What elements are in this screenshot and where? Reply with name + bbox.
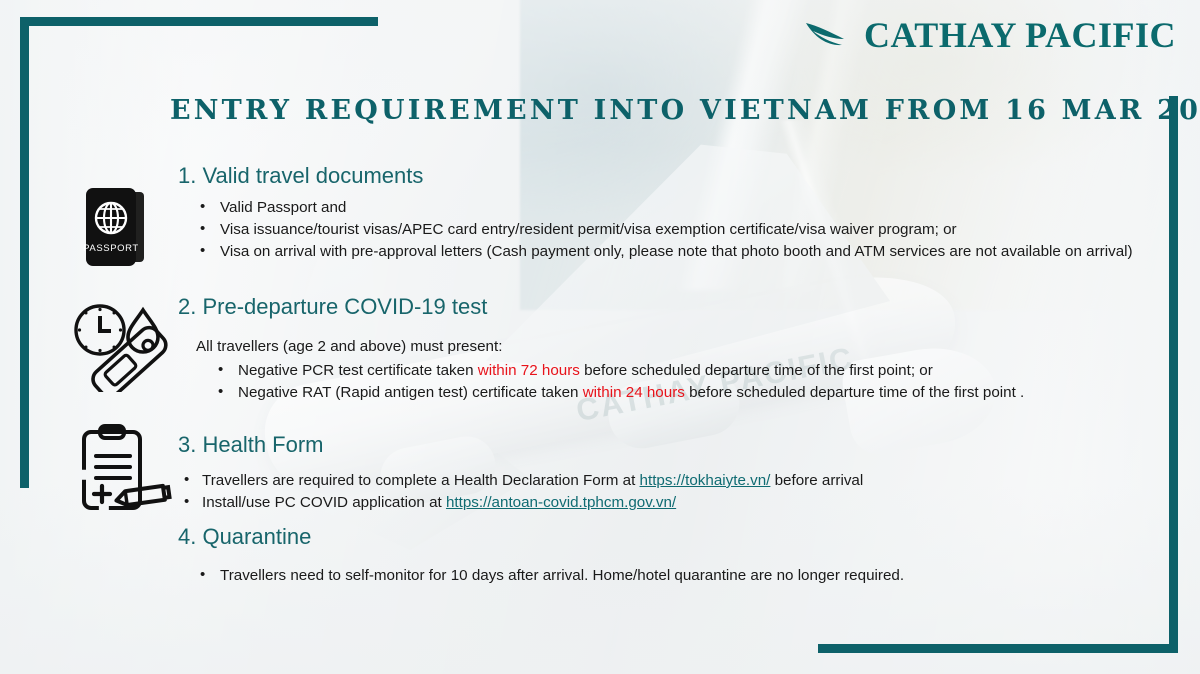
pc-covid-app-link[interactable]: https://antoan-covid.tphcm.gov.vn/ — [446, 494, 676, 511]
list-item: Visa on arrival with pre-approval letter… — [178, 241, 1138, 262]
corner-bracket-top-left-vertical — [20, 17, 29, 488]
text-after: before scheduled departure time of the f… — [580, 362, 933, 379]
brand-name: CATHAY PACIFIC — [864, 14, 1176, 56]
section-2-intro: All travellers (age 2 and above) must pr… — [196, 338, 502, 355]
text-before: Negative PCR test certificate taken — [238, 362, 478, 379]
covid-test-clock-icon — [70, 300, 170, 397]
entry-requirement-slide: CATHAY PACIFIC CATHAY PACIFIC ENTRY REQU… — [0, 0, 1200, 674]
svg-text:PASSPORT: PASSPORT — [83, 243, 139, 254]
highlight-text: within 72 hours — [478, 362, 580, 379]
text-before: Travellers are required to complete a He… — [202, 472, 640, 489]
list-item: Travellers need to self-monitor for 10 d… — [178, 565, 1138, 586]
passport-icon: PASSPORT — [82, 186, 156, 275]
list-item: Valid Passport and — [178, 197, 1138, 218]
text-after: before arrival — [770, 472, 863, 489]
cathay-brushwing-icon — [804, 15, 852, 55]
highlight-text: within 24 hours — [583, 384, 685, 401]
page-title: ENTRY REQUIREMENT INTO VIETNAM FROM 16 M… — [170, 95, 1200, 126]
section-4-heading: 4. Quarantine — [178, 524, 311, 550]
list-item: Negative PCR test certificate taken with… — [196, 360, 1156, 381]
corner-bracket-bottom-right-vertical — [1169, 96, 1178, 653]
corner-bracket-top-left-horizontal — [20, 17, 378, 26]
corner-bracket-bottom-right-horizontal — [818, 644, 1178, 653]
bullet-list: Valid Passport and Visa issuance/tourist… — [178, 197, 1138, 262]
list-item: Travellers are required to complete a He… — [178, 470, 1138, 491]
section-1-bullets: Valid Passport and Visa issuance/tourist… — [178, 197, 1138, 263]
cathay-pacific-logo: CATHAY PACIFIC — [804, 14, 1176, 56]
section-1-heading: 1. Valid travel documents — [178, 163, 423, 189]
bullet-list: Travellers are required to complete a He… — [178, 470, 1138, 513]
text-before: Negative RAT (Rapid antigen test) certif… — [238, 384, 583, 401]
section-3-bullets: Travellers are required to complete a He… — [178, 470, 1138, 514]
list-item: Install/use PC COVID application at http… — [178, 492, 1138, 513]
section-2-bullets: Negative PCR test certificate taken with… — [196, 360, 1156, 404]
section-3-heading: 3. Health Form — [178, 432, 324, 458]
text-before: Install/use PC COVID application at — [202, 494, 446, 511]
list-item: Negative RAT (Rapid antigen test) certif… — [196, 382, 1156, 403]
list-item: Visa issuance/tourist visas/APEC card en… — [178, 219, 1138, 240]
health-form-clipboard-icon — [76, 424, 172, 521]
bullet-list: Travellers need to self-monitor for 10 d… — [178, 565, 1138, 586]
section-2-heading: 2. Pre-departure COVID-19 test — [178, 294, 487, 320]
bullet-list: Negative PCR test certificate taken with… — [196, 360, 1156, 403]
text-after: before scheduled departure time of the f… — [685, 384, 1024, 401]
health-declaration-link[interactable]: https://tokhaiyte.vn/ — [640, 472, 771, 489]
section-4-bullets: Travellers need to self-monitor for 10 d… — [178, 565, 1138, 587]
